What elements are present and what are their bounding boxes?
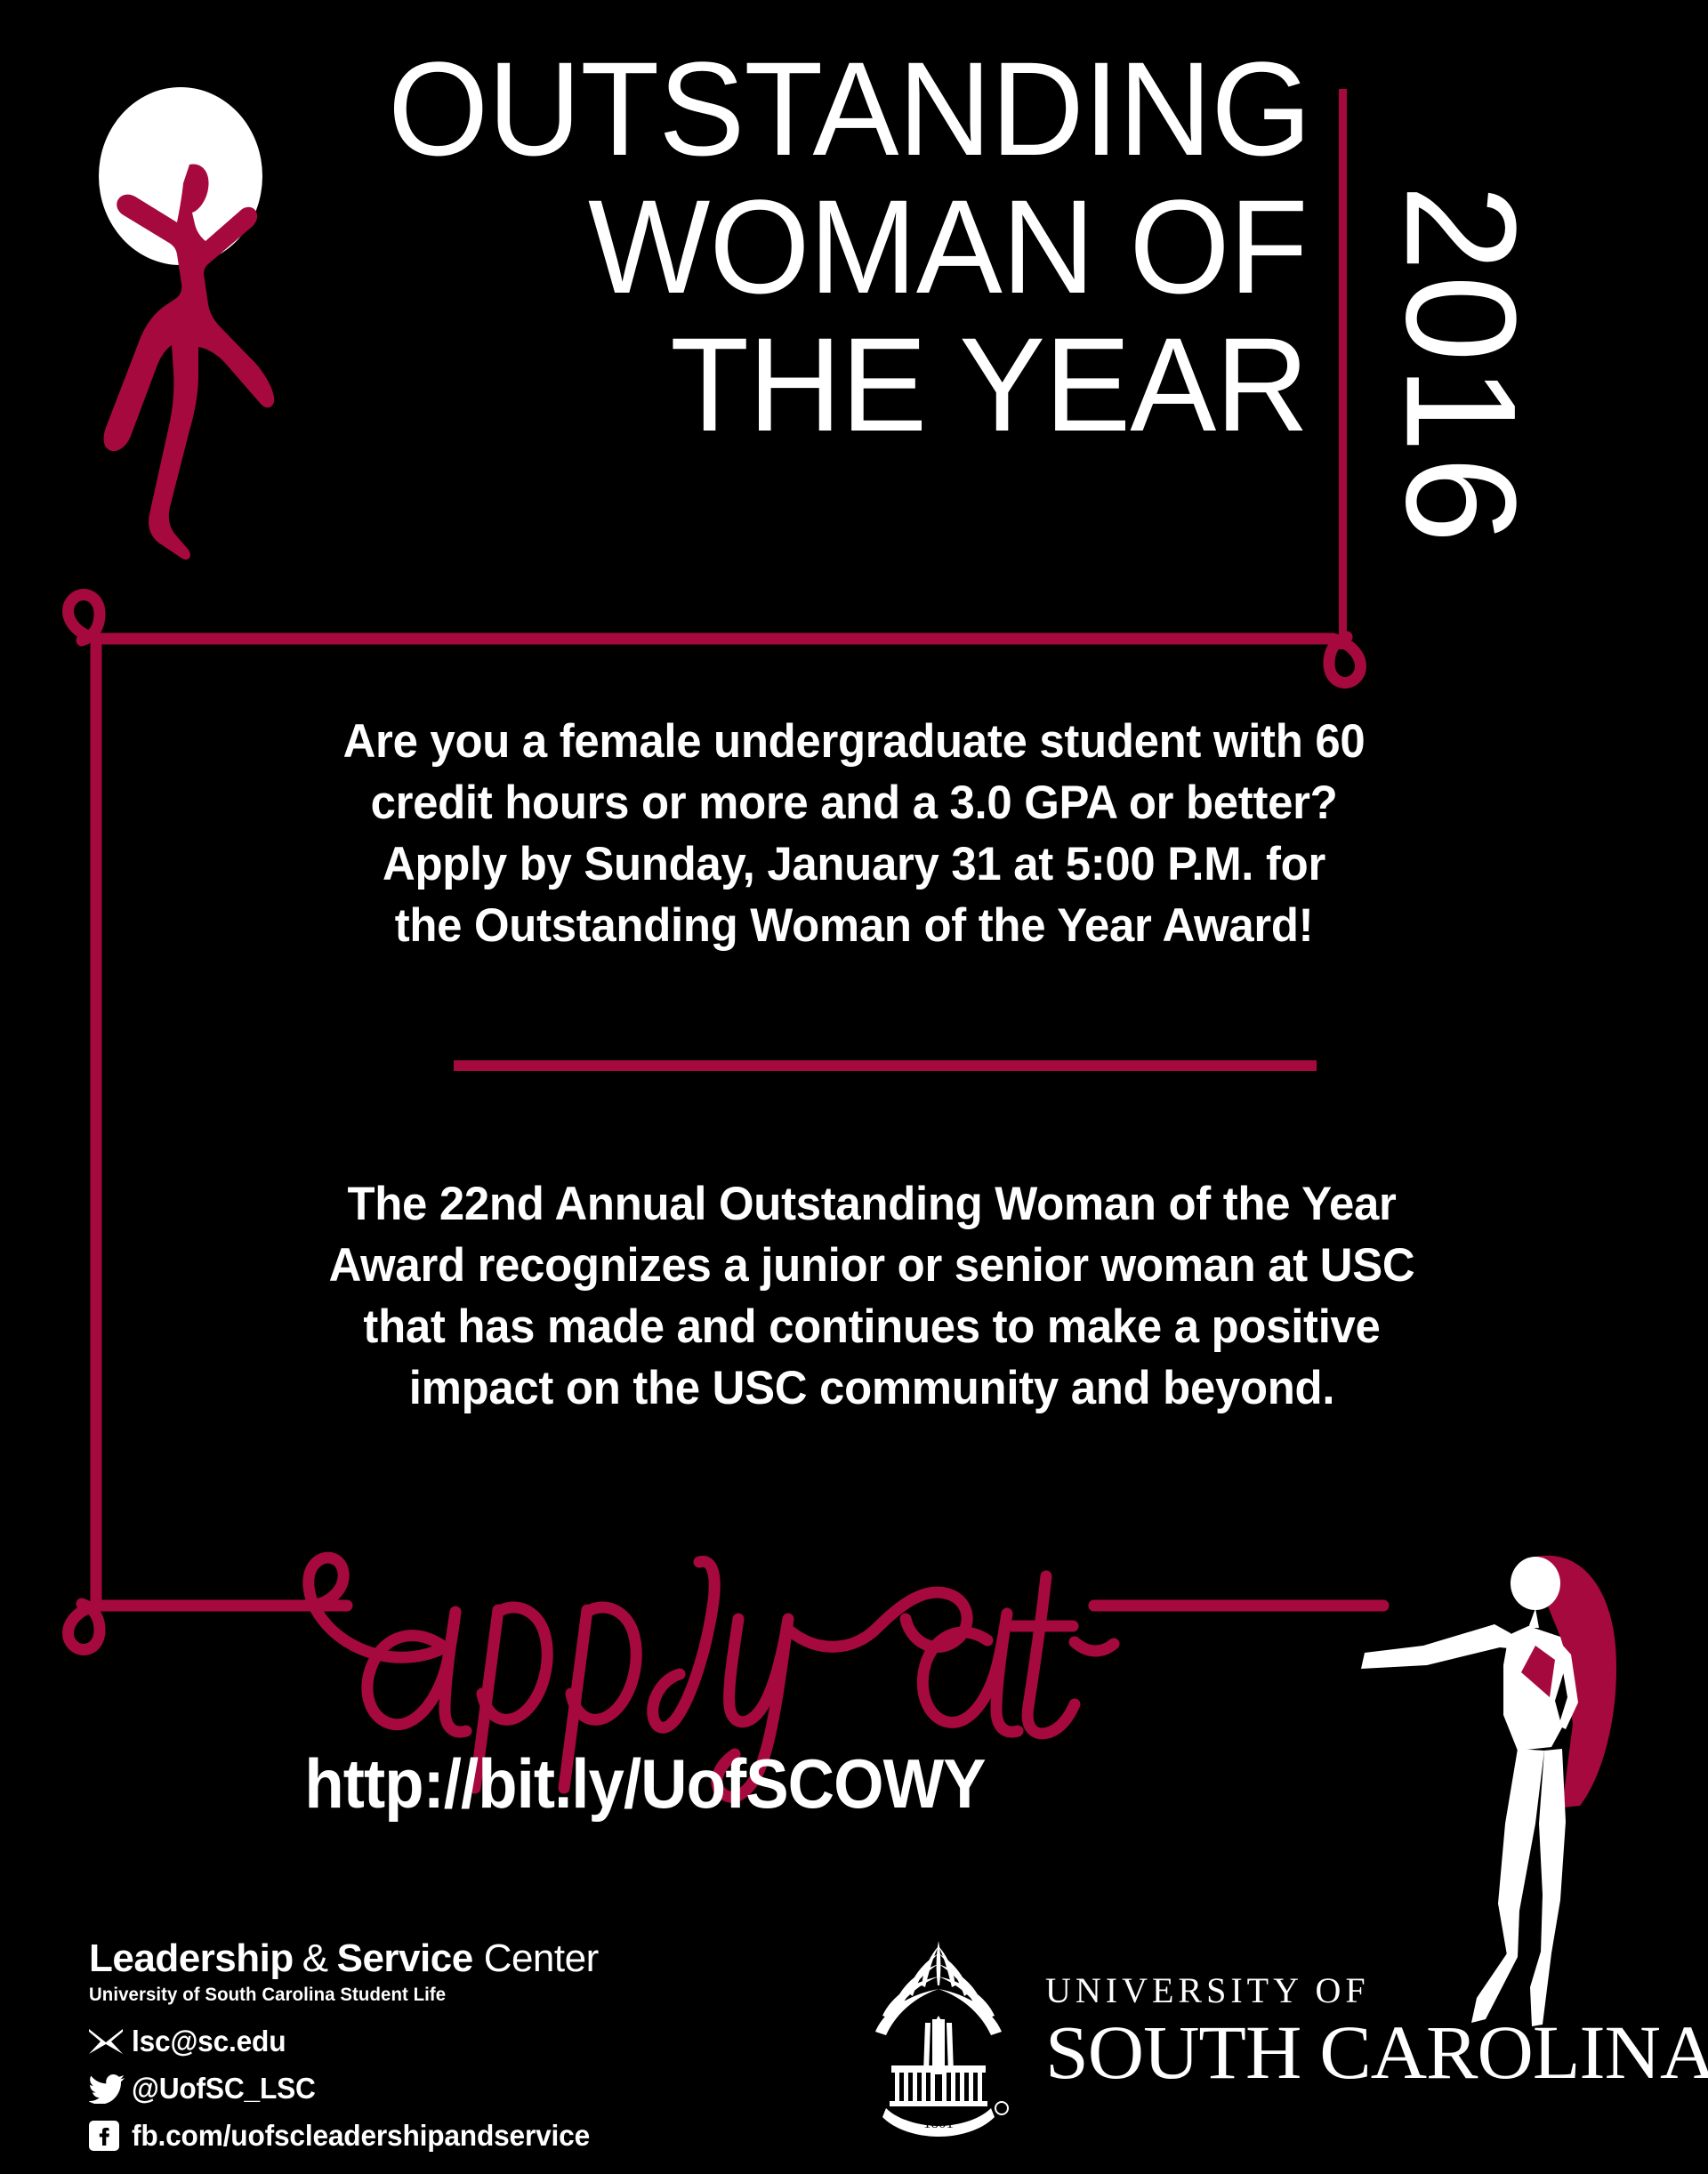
palmetto-seal-icon: 1801 [854, 1934, 1023, 2138]
description-paragraph: The 22nd Annual Outstanding Woman of the… [189, 1174, 1555, 1420]
description-line-3: that has made and continues to make a po… [189, 1297, 1555, 1358]
lsc-title: Leadership&ServiceCenter [89, 1939, 783, 1978]
contact-twitter-label: @UofSC_LSC [132, 2072, 316, 2106]
contact-email-label: lsc@sc.edu [132, 2025, 286, 2058]
dancing-woman-icon [85, 62, 298, 560]
usc-line-2: SOUTH CAROLINA [1045, 2014, 1698, 2090]
description-line-2: Award recognizes a junior or senior woma… [189, 1236, 1555, 1297]
facebook-icon [89, 2121, 126, 2151]
twitter-bird-icon [89, 2073, 126, 2104]
description-line-1: The 22nd Annual Outstanding Woman of the… [189, 1174, 1555, 1236]
year-label: 2016 [1371, 184, 1551, 547]
lsc-word-leadership: Leadership [89, 1936, 294, 1980]
year-block: 2016 [1361, 62, 1708, 560]
poster-canvas: OUTSTANDING WOMAN OF THE YEAR 2016 A [0, 0, 1708, 2174]
eligibility-line-4: the Outstanding Woman of the Year Award! [188, 896, 1520, 957]
poster-title: OUTSTANDING WOMAN OF THE YEAR [294, 46, 1308, 544]
eligibility-paragraph: Are you a female undergraduate student w… [188, 712, 1520, 957]
title-line-3: THE YEAR [670, 322, 1308, 447]
contact-facebook-row[interactable]: fb.com/uofscleadershipandservice [89, 2118, 783, 2154]
lsc-word-center: Center [473, 1936, 599, 1980]
envelope-icon [89, 2026, 126, 2057]
description-copy: The 22nd Annual Outstanding Woman of the… [160, 1174, 1583, 1420]
year-divider-rule [1339, 89, 1347, 649]
title-line-2: WOMAN OF [588, 184, 1308, 310]
eligibility-line-2: credit hours or more and a 3.0 GPA or be… [188, 773, 1520, 834]
lsc-word-ampersand: & [294, 1936, 337, 1980]
contact-list: lsc@sc.edu @UofSC_LSC [89, 2024, 783, 2154]
lsc-word-service: Service [337, 1936, 473, 1980]
eligibility-line-1: Are you a female undergraduate student w… [188, 712, 1520, 773]
contact-facebook-label: fb.com/uofscleadershipandservice [132, 2119, 590, 2153]
seal-year-label: 1801 [923, 2114, 954, 2131]
section-divider [454, 1060, 1317, 1071]
usc-line-1: UNIVERSITY OF [1045, 1973, 1686, 2009]
frame-corner-loop-topleft [68, 594, 100, 640]
usc-wordmark: UNIVERSITY OF SOUTH CAROLINA [1045, 1973, 1686, 2090]
poster-header: OUTSTANDING WOMAN OF THE YEAR 2016 [0, 0, 1708, 587]
apply-url[interactable]: http://bit.ly/UofSCOWY [45, 1743, 1245, 1824]
leadership-service-lockup: Leadership&ServiceCenter University of S… [89, 1939, 783, 2165]
title-line-1: OUTSTANDING [389, 46, 1311, 172]
eligibility-line-3: Apply by Sunday, January 31 at 5:00 P.M.… [188, 834, 1520, 896]
usc-logo: 1801 UNIVERSITY OF SOUTH CAROLINA [854, 1921, 1690, 2153]
poster-footer: Leadership&ServiceCenter University of S… [0, 1912, 1708, 2174]
eligibility-copy: Are you a female undergraduate student w… [160, 712, 1548, 957]
lsc-subtitle: University of South Carolina Student Lif… [89, 1985, 762, 2006]
description-line-4: impact on the USC community and beyond. [189, 1358, 1555, 1420]
contact-twitter-row[interactable]: @UofSC_LSC [89, 2071, 783, 2106]
contact-email-row[interactable]: lsc@sc.edu [89, 2024, 783, 2059]
